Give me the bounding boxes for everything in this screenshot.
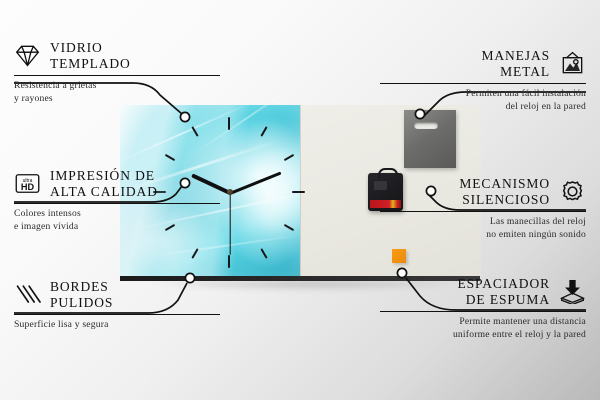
hour-marker (228, 255, 230, 268)
callout-title-line1: ESPACIADOR (457, 276, 550, 291)
callout-rule (14, 203, 220, 205)
callout-title-line2: PULIDOS (50, 295, 113, 310)
callout-rule (380, 211, 586, 213)
callout-subtitle-line1: Permite mantener una distancia (459, 316, 586, 327)
clock-center-hub (227, 189, 233, 195)
callout-subtitle-line2: no emiten ningún sonido (486, 229, 586, 240)
callout-title-line1: IMPRESIÓN DE (50, 168, 155, 183)
ultra-hd-icon: ultra HD (14, 171, 41, 196)
callout-title-line1: MECANISMO (459, 176, 550, 191)
callout-impresion-alta-calidad[interactable]: ultra HD IMPRESIÓN DE ALTA CALIDAD Color… (14, 168, 220, 234)
callout-title-line2: DE ESPUMA (466, 292, 550, 307)
callout-title-line1: VIDRIO (50, 40, 103, 55)
gear-icon (559, 179, 586, 204)
callout-title-line2: SILENCIOSO (462, 192, 550, 207)
callout-subtitle-line1: Resistencia a grietas (14, 80, 97, 91)
callout-manejas-metal[interactable]: MANEJAS METAL Permiten una fácil instala… (380, 48, 586, 114)
callout-mecanismo-silencioso[interactable]: MECANISMO SILENCIOSO Las manecillas del … (380, 176, 586, 242)
callout-subtitle-line1: Permiten una fácil instalación (466, 88, 586, 99)
callout-rule (380, 83, 586, 85)
callout-rule (14, 75, 220, 77)
arrow-down-onto-pad-icon (559, 279, 586, 304)
picture-frame-hanging-icon (559, 51, 586, 76)
hanger-plate-slot (414, 122, 438, 129)
second-hand (229, 193, 230, 255)
callout-subtitle-line1: Colores intensos (14, 208, 81, 219)
callout-title-line2: ALTA CALIDAD (50, 184, 158, 199)
infographic-canvas: VIDRIO TEMPLADO Resistencia a grietas y … (0, 0, 600, 400)
metal-hanger-plate (404, 110, 456, 168)
callout-bordes-pulidos[interactable]: BORDES PULIDOS Superficie lisa y segura (14, 279, 220, 332)
callout-subtitle-line2: y rayones (14, 93, 53, 104)
callout-title-line2: METAL (500, 64, 550, 79)
ultra-hd-icon-large-text: HD (21, 183, 35, 193)
callout-subtitle-line2: uniforme entre el reloj y la pared (453, 329, 586, 340)
callout-subtitle-line1: Superficie lisa y segura (14, 319, 109, 330)
callout-title-line1: BORDES (50, 279, 109, 294)
diamond-icon (14, 43, 41, 68)
callout-vidrio-templado[interactable]: VIDRIO TEMPLADO Resistencia a grietas y … (14, 40, 220, 106)
callout-subtitle-line2: del reloj en la pared (506, 101, 586, 112)
hour-marker (228, 117, 230, 130)
callout-rule (14, 314, 220, 316)
callout-subtitle-line2: e imagen vívida (14, 221, 78, 232)
diagonal-lines-icon (14, 282, 41, 307)
orange-foam-spacer (392, 249, 406, 263)
hour-marker (292, 191, 305, 193)
callout-subtitle-line1: Las manecillas del reloj (490, 216, 586, 227)
callout-rule (380, 311, 586, 313)
callout-title-line1: MANEJAS (481, 48, 550, 63)
callout-title-line2: TEMPLADO (50, 56, 131, 71)
callout-espaciador-de-espuma[interactable]: ESPACIADOR DE ESPUMA Permite mantener un… (380, 276, 586, 342)
